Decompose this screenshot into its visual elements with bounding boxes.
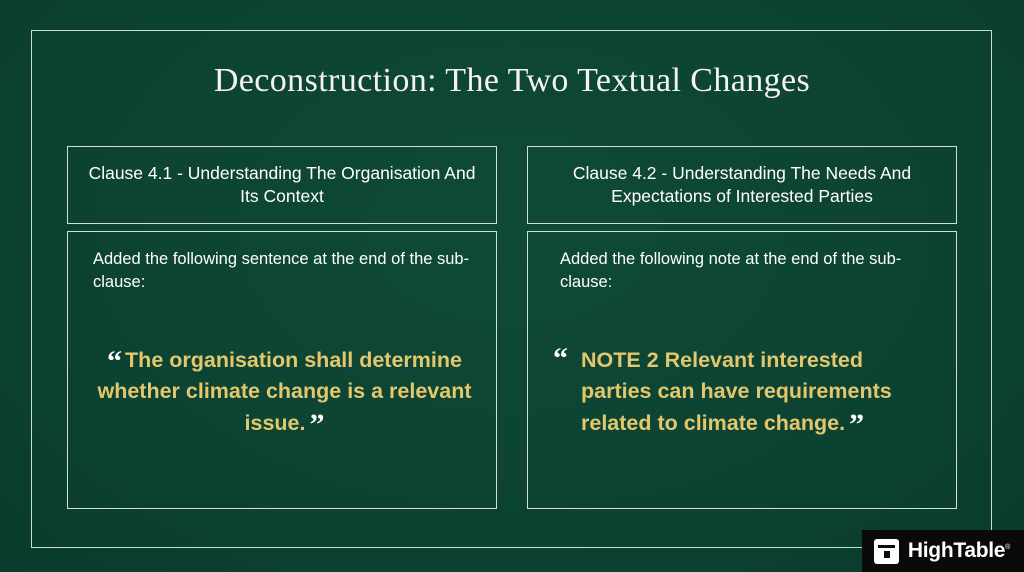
clause-header-4-1: Clause 4.1 - Understanding The Organisat…: [67, 146, 497, 224]
quote-close-icon: ”: [309, 408, 324, 441]
clause-header-4-1-label: Clause 4.1 - Understanding The Organisat…: [80, 162, 484, 209]
clause-4-1-quote: “The organisation shall determine whethe…: [93, 345, 476, 440]
slide-canvas: Deconstruction: The Two Textual Changes …: [0, 0, 1024, 572]
clause-4-1-quote-text: The organisation shall determine whether…: [97, 348, 471, 435]
page-title: Deconstruction: The Two Textual Changes: [0, 62, 1024, 100]
clause-4-2-intro-text: Added the following note at the end of t…: [553, 248, 936, 295]
clause-body-4-2: Added the following note at the end of t…: [527, 231, 957, 509]
column-clause-4-2: Clause 4.2 - Understanding The Needs And…: [527, 146, 957, 509]
clause-4-2-quote-text: NOTE 2 Relevant interested parties can h…: [581, 348, 892, 435]
logo-name: HighTable: [908, 539, 1005, 562]
registered-mark: ®: [1005, 544, 1010, 551]
clause-header-4-2: Clause 4.2 - Understanding The Needs And…: [527, 146, 957, 224]
quote-close-icon: ”: [849, 408, 864, 441]
clause-header-4-2-label: Clause 4.2 - Understanding The Needs And…: [540, 162, 944, 209]
quote-open-icon: “: [107, 345, 122, 378]
column-clause-4-1: Clause 4.1 - Understanding The Organisat…: [67, 146, 497, 509]
logo-wordmark: HighTable®: [908, 539, 1010, 563]
hightable-logo: HighTable®: [862, 530, 1024, 572]
clause-4-2-quote: “NOTE 2 Relevant interested parties can …: [553, 345, 936, 440]
clause-body-4-1: Added the following sentence at the end …: [67, 231, 497, 509]
columns-container: Clause 4.1 - Understanding The Organisat…: [67, 146, 957, 509]
table-icon: [874, 539, 899, 564]
clause-4-1-intro-text: Added the following sentence at the end …: [93, 248, 476, 295]
